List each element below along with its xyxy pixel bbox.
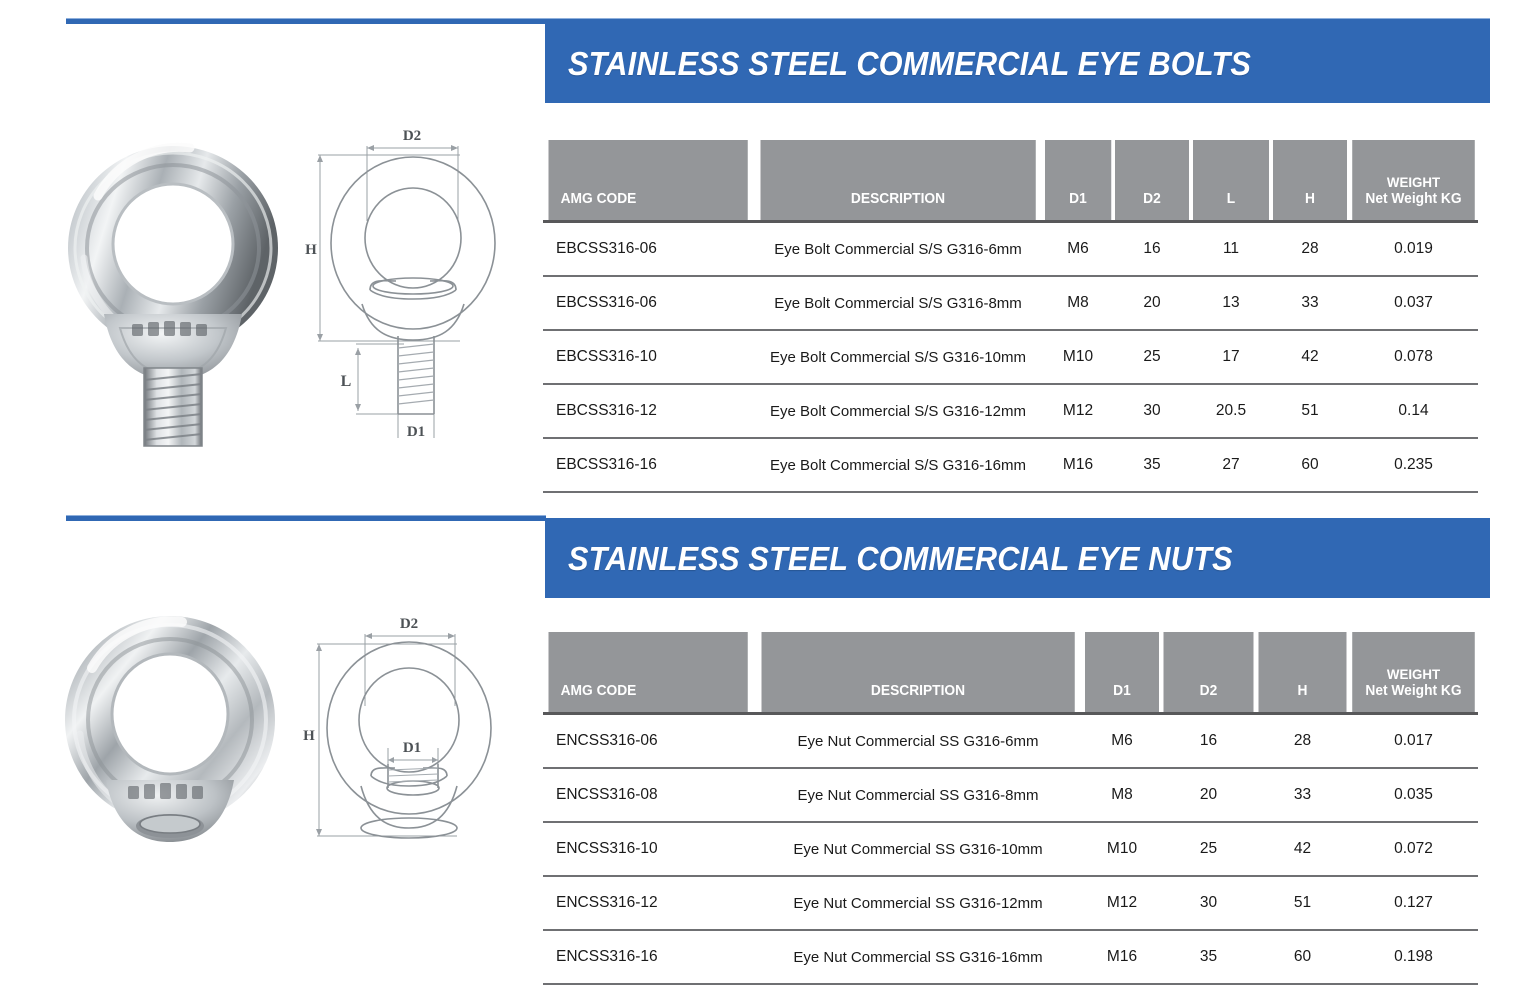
cell-code: EBCSS316-10 <box>543 330 753 384</box>
cell-desc: Eye Bolt Commercial S/S G316-10mm <box>753 330 1043 384</box>
cell-desc: Eye Nut Commercial SS G316-6mm <box>753 714 1083 769</box>
table-row: EBCSS316-12Eye Bolt Commercial S/S G316-… <box>543 384 1478 438</box>
table-row: ENCSS316-06Eye Nut Commercial SS G316-6m… <box>543 714 1478 769</box>
middle-accent-rule <box>66 515 546 521</box>
dimension-label-h: H <box>305 242 317 258</box>
cell-l: 17 <box>1191 330 1271 384</box>
eye-bolts-spec-table: AMG CODE DESCRIPTION D1 D2 L H WEIGHT Ne… <box>543 140 1478 493</box>
eye-bolt-photo <box>60 118 310 448</box>
dimension-label-h: H <box>303 728 315 744</box>
cell-h: 28 <box>1256 714 1349 769</box>
cell-desc: Eye Bolt Commercial S/S G316-6mm <box>753 222 1043 277</box>
eye-bolt-technical-drawing: D2 H L D1 <box>300 118 525 448</box>
table-header-row: AMG CODE DESCRIPTION D1 D2 L H WEIGHT Ne… <box>543 140 1478 222</box>
cell-d1: M16 <box>1043 438 1113 492</box>
cell-code: EBCSS316-06 <box>543 276 753 330</box>
section-title-eye-nuts: STAINLESS STEEL COMMERCIAL EYE NUTS <box>568 542 1233 575</box>
cell-weight: 0.078 <box>1349 330 1478 384</box>
table-row: EBCSS316-06Eye Bolt Commercial S/S G316-… <box>543 276 1478 330</box>
table-row: ENCSS316-10Eye Nut Commercial SS G316-10… <box>543 822 1478 876</box>
column-header-description: DESCRIPTION <box>760 140 1036 222</box>
eye-bolts-table-body: EBCSS316-06Eye Bolt Commercial S/S G316-… <box>543 222 1478 493</box>
cell-code: EBCSS316-16 <box>543 438 753 492</box>
column-header-weight-top: WEIGHT <box>1352 666 1475 683</box>
table-row: ENCSS316-08Eye Nut Commercial SS G316-8m… <box>543 768 1478 822</box>
cell-h: 42 <box>1256 822 1349 876</box>
cell-h: 51 <box>1271 384 1349 438</box>
cell-code: ENCSS316-08 <box>543 768 753 822</box>
cell-d2: 16 <box>1161 714 1256 769</box>
cell-weight: 0.072 <box>1349 822 1478 876</box>
cell-d2: 30 <box>1161 876 1256 930</box>
section-title-bar-eye-nuts: STAINLESS STEEL COMMERCIAL EYE NUTS <box>545 518 1490 598</box>
eye-bolt-figures: D2 H L D1 <box>60 118 525 448</box>
dimension-label-d1: D1 <box>407 424 425 440</box>
cell-l: 27 <box>1191 438 1271 492</box>
cell-d2: 25 <box>1161 822 1256 876</box>
cell-weight: 0.235 <box>1349 438 1478 492</box>
column-header-weight: WEIGHT Net Weight KG <box>1352 140 1475 222</box>
column-header-d2: D2 <box>1115 140 1189 222</box>
section-title-eye-bolts: STAINLESS STEEL COMMERCIAL EYE BOLTS <box>568 47 1251 80</box>
table-row: EBCSS316-10Eye Bolt Commercial S/S G316-… <box>543 330 1478 384</box>
column-header-weight-bottom: Net Weight KG <box>1365 191 1461 207</box>
table-row: ENCSS316-16Eye Nut Commercial SS G316-16… <box>543 930 1478 984</box>
eye-nut-photo <box>60 608 305 868</box>
cell-d1: M8 <box>1083 768 1161 822</box>
column-header-h: H <box>1273 140 1347 222</box>
dimension-label-d1: D1 <box>403 740 421 756</box>
cell-d2: 30 <box>1113 384 1191 438</box>
cell-d2: 35 <box>1161 930 1256 984</box>
table-header-row: AMG CODE DESCRIPTION D1 D2 H WEIGHT Net … <box>543 632 1478 714</box>
eye-bolts-table-header: AMG CODE DESCRIPTION D1 D2 L H WEIGHT Ne… <box>543 140 1478 222</box>
cell-desc: Eye Nut Commercial SS G316-8mm <box>753 768 1083 822</box>
cell-weight: 0.019 <box>1349 222 1478 277</box>
column-header-weight: WEIGHT Net Weight KG <box>1352 632 1475 714</box>
cell-weight: 0.037 <box>1349 276 1478 330</box>
cell-d1: M12 <box>1083 876 1161 930</box>
eye-nuts-table-body: ENCSS316-06Eye Nut Commercial SS G316-6m… <box>543 714 1478 985</box>
eye-nut-technical-drawing: D2 H D1 <box>295 608 525 868</box>
cell-h: 51 <box>1256 876 1349 930</box>
cell-h: 33 <box>1256 768 1349 822</box>
dimension-label-l: L <box>341 373 352 390</box>
section-title-bar-eye-bolts: STAINLESS STEEL COMMERCIAL EYE BOLTS <box>545 23 1490 103</box>
cell-l: 11 <box>1191 222 1271 277</box>
column-header-code: AMG CODE <box>548 632 748 714</box>
table-row: EBCSS316-06Eye Bolt Commercial S/S G316-… <box>543 222 1478 277</box>
column-header-d2: D2 <box>1163 632 1253 714</box>
cell-desc: Eye Bolt Commercial S/S G316-16mm <box>753 438 1043 492</box>
cell-d2: 16 <box>1113 222 1191 277</box>
cell-d1: M12 <box>1043 384 1113 438</box>
table-row: EBCSS316-16Eye Bolt Commercial S/S G316-… <box>543 438 1478 492</box>
eye-nuts-table-header: AMG CODE DESCRIPTION D1 D2 H WEIGHT Net … <box>543 632 1478 714</box>
cell-weight: 0.017 <box>1349 714 1478 769</box>
cell-code: ENCSS316-12 <box>543 876 753 930</box>
column-header-weight-bottom: Net Weight KG <box>1365 683 1461 699</box>
column-header-d1: D1 <box>1045 140 1112 222</box>
cell-code: EBCSS316-06 <box>543 222 753 277</box>
column-header-description: DESCRIPTION <box>761 632 1075 714</box>
cell-desc: Eye Nut Commercial SS G316-12mm <box>753 876 1083 930</box>
table-row: ENCSS316-12Eye Nut Commercial SS G316-12… <box>543 876 1478 930</box>
cell-code: ENCSS316-16 <box>543 930 753 984</box>
dimension-label-d2: D2 <box>400 616 418 632</box>
cell-h: 60 <box>1256 930 1349 984</box>
column-header-h: H <box>1258 632 1346 714</box>
cell-d2: 20 <box>1161 768 1256 822</box>
cell-code: EBCSS316-12 <box>543 384 753 438</box>
cell-d1: M8 <box>1043 276 1113 330</box>
cell-weight: 0.198 <box>1349 930 1478 984</box>
cell-code: ENCSS316-10 <box>543 822 753 876</box>
eye-nuts-spec-table: AMG CODE DESCRIPTION D1 D2 H WEIGHT Net … <box>543 632 1478 985</box>
cell-d1: M16 <box>1083 930 1161 984</box>
cell-d2: 25 <box>1113 330 1191 384</box>
cell-d1: M6 <box>1083 714 1161 769</box>
dimension-label-d2: D2 <box>403 128 421 144</box>
catalogue-page: STAINLESS STEEL COMMERCIAL EYE BOLTS <box>0 0 1536 997</box>
cell-d1: M10 <box>1043 330 1113 384</box>
column-header-weight-top: WEIGHT <box>1352 174 1475 191</box>
cell-d1: M10 <box>1083 822 1161 876</box>
eye-nut-figures: D2 H D1 <box>60 608 525 908</box>
column-header-code: AMG CODE <box>548 140 748 222</box>
cell-l: 13 <box>1191 276 1271 330</box>
cell-h: 42 <box>1271 330 1349 384</box>
cell-desc: Eye Nut Commercial SS G316-10mm <box>753 822 1083 876</box>
cell-weight: 0.035 <box>1349 768 1478 822</box>
cell-d1: M6 <box>1043 222 1113 277</box>
cell-weight: 0.127 <box>1349 876 1478 930</box>
cell-desc: Eye Bolt Commercial S/S G316-8mm <box>753 276 1043 330</box>
cell-d2: 35 <box>1113 438 1191 492</box>
cell-desc: Eye Nut Commercial SS G316-16mm <box>753 930 1083 984</box>
cell-h: 60 <box>1271 438 1349 492</box>
column-header-l: L <box>1193 140 1269 222</box>
cell-code: ENCSS316-06 <box>543 714 753 769</box>
cell-h: 33 <box>1271 276 1349 330</box>
cell-desc: Eye Bolt Commercial S/S G316-12mm <box>753 384 1043 438</box>
cell-d2: 20 <box>1113 276 1191 330</box>
column-header-d1: D1 <box>1085 632 1159 714</box>
cell-h: 28 <box>1271 222 1349 277</box>
cell-weight: 0.14 <box>1349 384 1478 438</box>
cell-l: 20.5 <box>1191 384 1271 438</box>
